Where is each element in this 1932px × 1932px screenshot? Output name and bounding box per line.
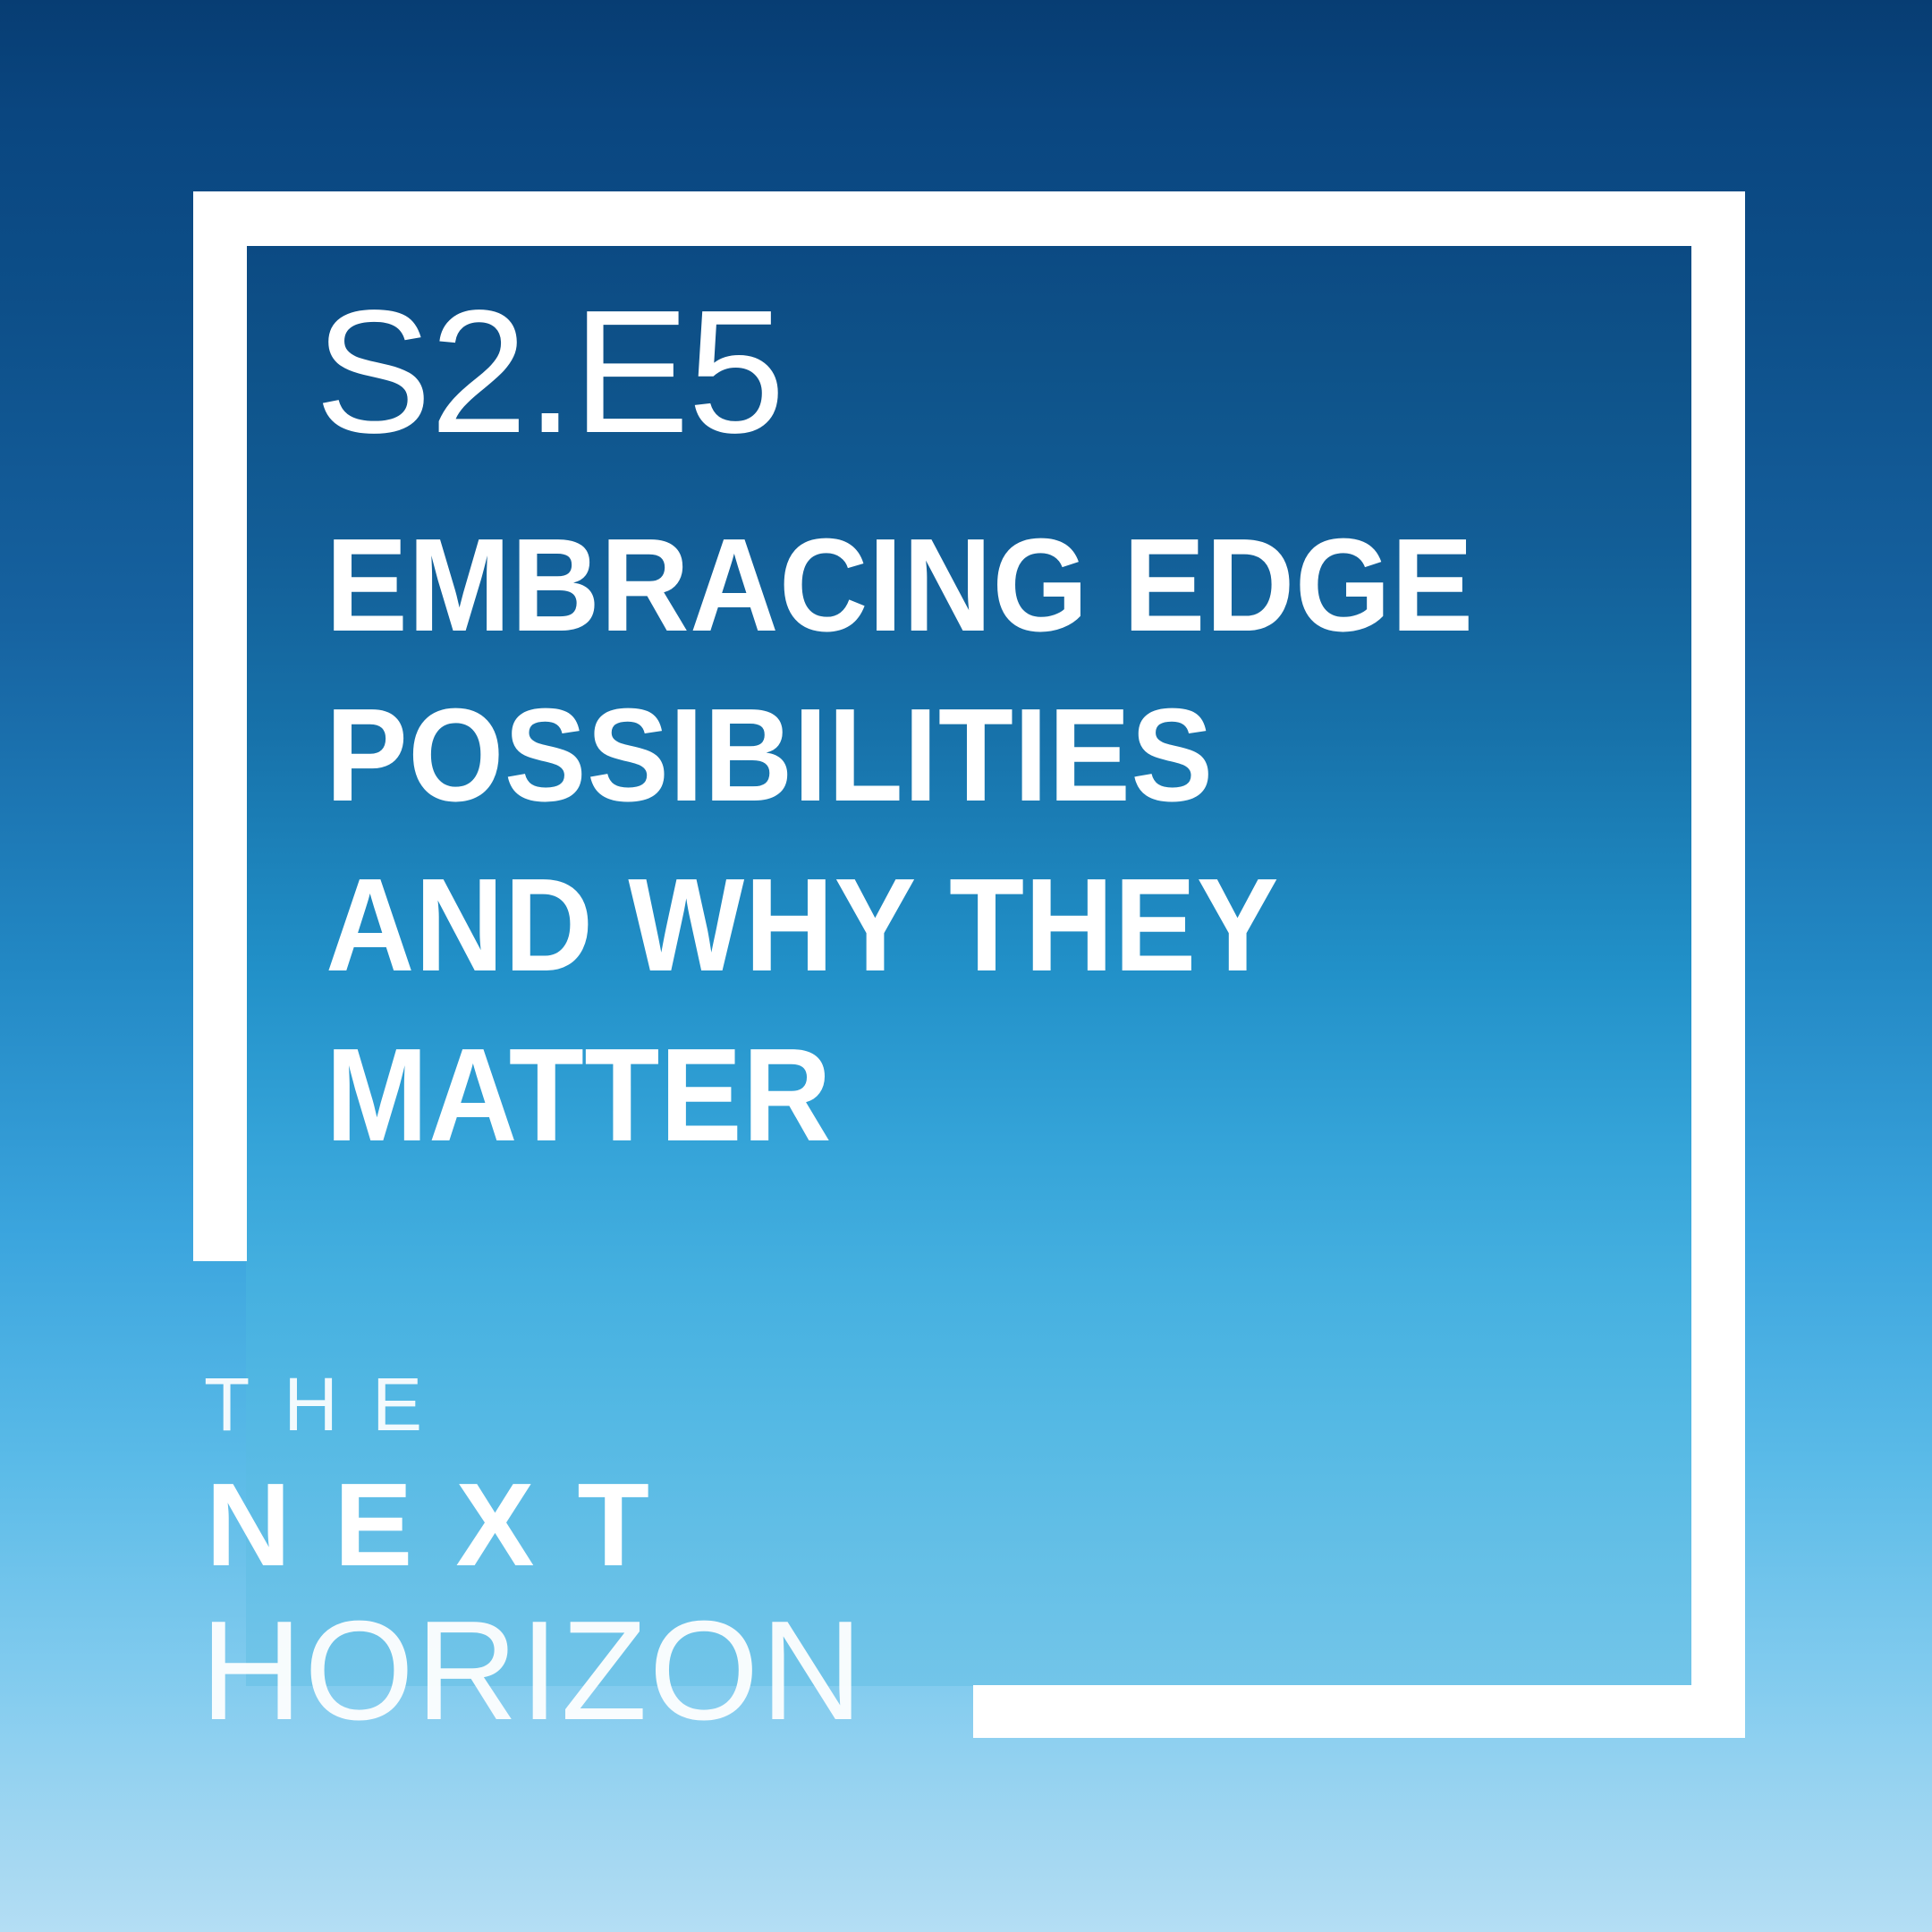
show-logo-line-horizon: HORIZON [200, 1596, 865, 1746]
show-logo-line-the: THE [204, 1360, 865, 1449]
episode-title-line-3: AND WHY THEY [326, 841, 1540, 1011]
episode-title-line-4: MATTER [326, 1011, 1540, 1181]
episode-title-line-1: EMBRACING EDGE [326, 501, 1540, 671]
frame-bar-top [194, 191, 1745, 246]
episode-title: EMBRACING EDGE POSSIBILITIES AND WHY THE… [326, 501, 1631, 1181]
show-logo-line-next: NEXT [206, 1458, 865, 1592]
podcast-cover-artwork: S2.E5 EMBRACING EDGE POSSIBILITIES AND W… [0, 0, 1932, 1932]
frame-bar-left [193, 191, 247, 1261]
frame-bar-right [1691, 191, 1745, 1738]
episode-title-line-2: POSSIBILITIES [326, 671, 1540, 841]
show-logo: THE NEXT HORIZON [204, 1360, 865, 1746]
episode-number-label: S2.E5 [315, 284, 784, 460]
frame-bar-bottom [973, 1685, 1745, 1738]
